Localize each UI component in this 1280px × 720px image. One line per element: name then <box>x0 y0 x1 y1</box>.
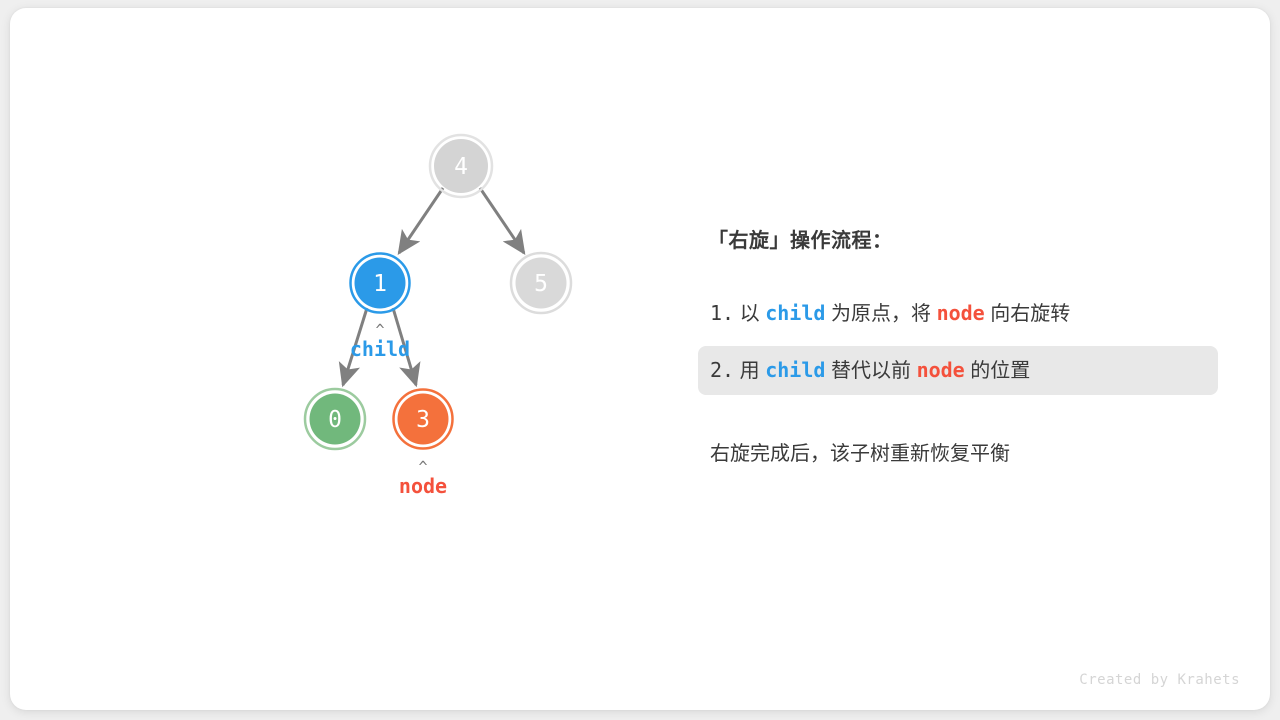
tree-node-0-label: 0 <box>328 407 342 433</box>
step-2-code-child: child <box>765 358 825 382</box>
step-item-2: 2. 用 child 替代以前 node 的位置 <box>698 346 1218 395</box>
step-1-number: 1. <box>710 301 734 325</box>
tree-node-3-label: 3 <box>416 407 430 433</box>
explanation-panel: 「右旋」操作流程： 1. 以 child 为原点，将 node 向右旋转 2. … <box>698 224 1218 466</box>
step-item-1: 1. 以 child 为原点，将 node 向右旋转 <box>698 289 1218 338</box>
step-1-text-b: 为原点，将 <box>831 303 931 325</box>
pointer-child-label: child <box>350 337 410 361</box>
step-2-number: 2. <box>710 358 734 382</box>
tree-node-5-label: 5 <box>534 271 548 297</box>
panel-title: 「右旋」操作流程： <box>708 224 1218 253</box>
edge-4-5 <box>480 188 524 253</box>
credit-text: Created by Krahets <box>1079 672 1240 688</box>
pointer-node-label: node <box>399 474 447 498</box>
tree-node-5[interactable]: 5 <box>511 253 571 313</box>
tree-node-1-label: 1 <box>373 271 387 297</box>
step-2-text-a: 用 <box>740 360 760 382</box>
edge-4-1 <box>399 188 443 253</box>
tree-node-0[interactable]: 0 <box>305 389 365 449</box>
step-1-code-child: child <box>765 301 825 325</box>
pointer-child: ^ child <box>350 321 410 361</box>
tree-node-4-label: 4 <box>454 154 468 180</box>
panel-note: 右旋完成后，该子树重新恢复平衡 <box>710 437 1218 466</box>
step-2-text-c: 的位置 <box>970 360 1030 382</box>
step-1-text-a: 以 <box>740 303 760 325</box>
binary-tree-diagram: 4 1 5 0 <box>10 8 670 710</box>
step-1-text-c: 向右旋转 <box>990 303 1070 325</box>
pointer-node: ^ node <box>399 458 447 498</box>
tree-node-1[interactable]: 1 <box>351 254 410 313</box>
step-1-code-node: node <box>937 301 985 325</box>
step-2-text-b: 替代以前 <box>831 360 911 382</box>
tree-node-4[interactable]: 4 <box>430 135 492 197</box>
step-2-code-node: node <box>917 358 965 382</box>
tree-node-3[interactable]: 3 <box>394 390 453 449</box>
slide-card: 4 1 5 0 <box>10 8 1270 710</box>
